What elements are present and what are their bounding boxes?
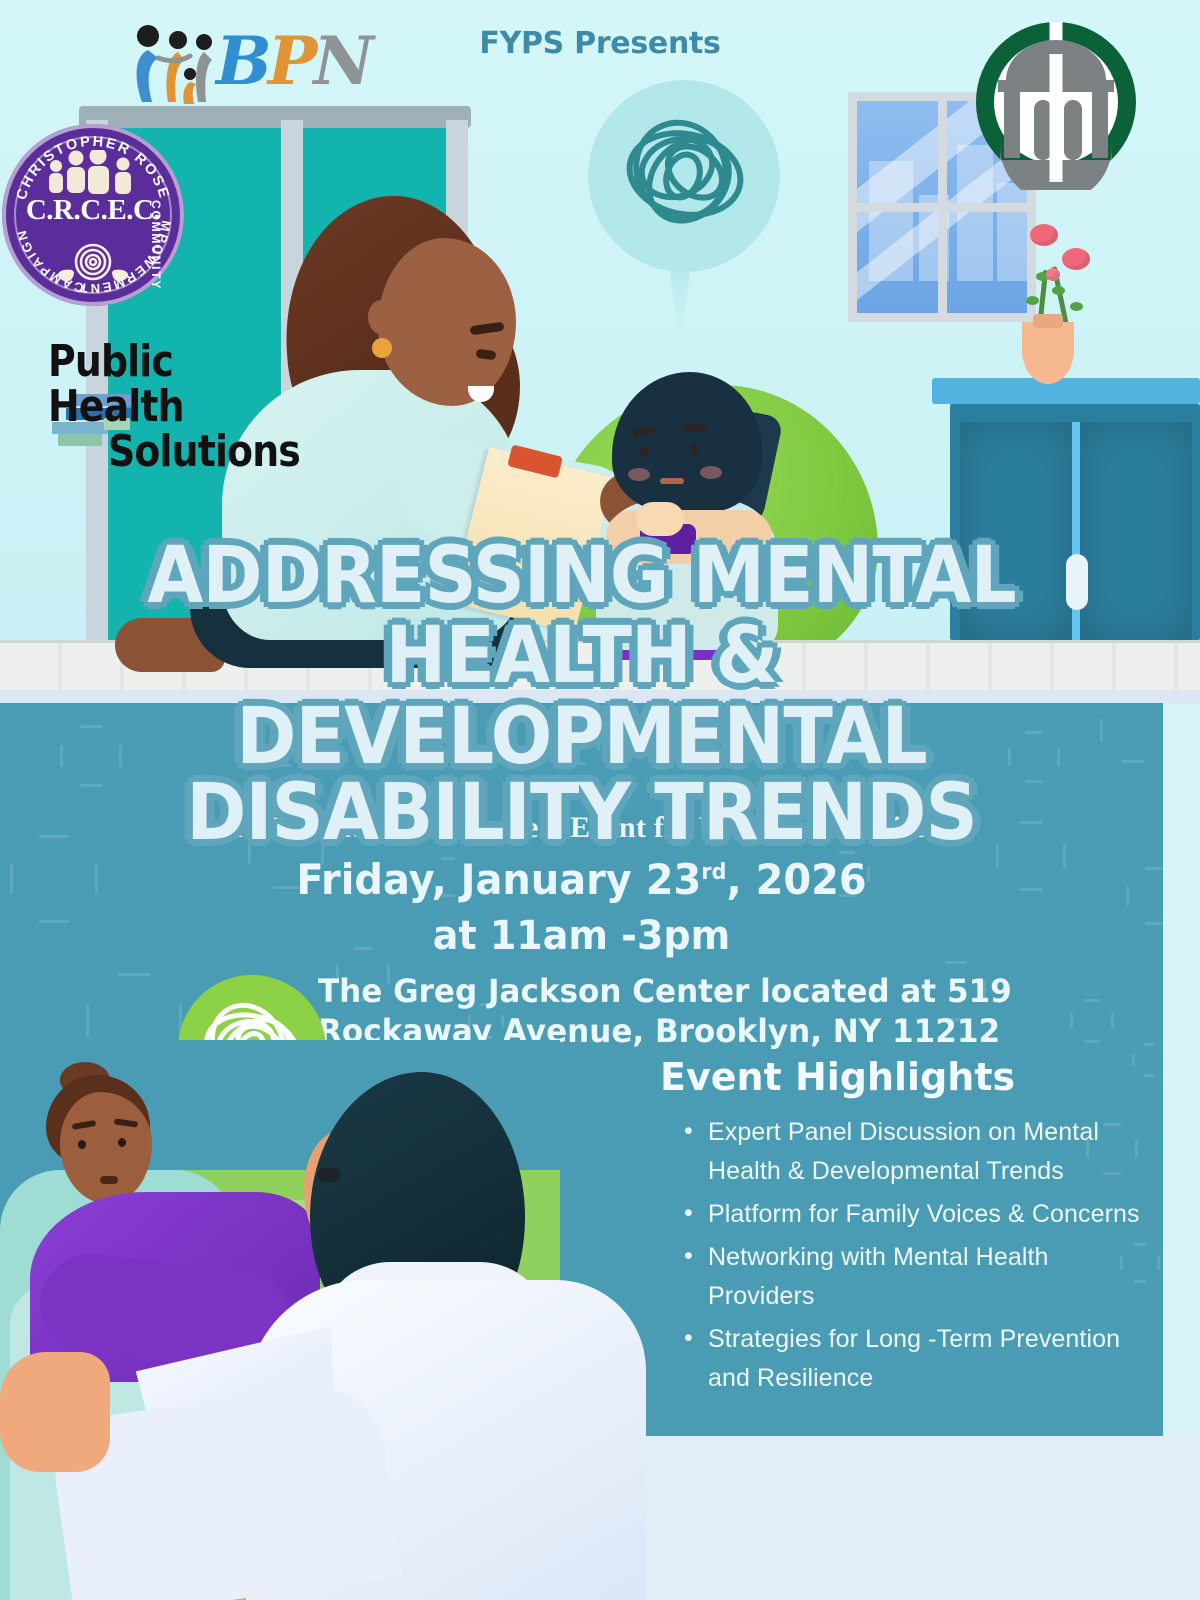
title-line-1: ADDRESSING MENTAL <box>41 538 1123 614</box>
event-time: at 11am -3pm <box>29 913 1134 959</box>
child-mouth <box>660 478 684 484</box>
flower-bloom <box>1030 224 1058 246</box>
therapist-hand <box>0 1352 110 1472</box>
title-line-2: HEALTH & <box>41 618 1123 694</box>
crcec-logo: CHRISTOPHER ROSE EMPOWERMENT CAMPAIGN CO… <box>2 124 184 306</box>
leaf <box>1070 302 1083 311</box>
child-cheek <box>628 468 650 481</box>
crcec-rose-icon <box>48 240 138 284</box>
window-mullion <box>857 203 1027 212</box>
dresser-top <box>932 378 1200 404</box>
event-venue: The Greg Jackson Center located at 519 R… <box>318 971 1094 1051</box>
flower-bloom <box>1062 248 1090 270</box>
presenter-label: FYPS Presents <box>0 26 1200 61</box>
child-eye <box>690 444 698 455</box>
child-cheek <box>700 466 722 479</box>
public-health-solutions-logo: Public Health Solutions <box>48 340 308 450</box>
panel-right-edge <box>1163 703 1200 1436</box>
list-item: Platform for Family Voices & Concerns <box>676 1195 1146 1234</box>
list-item: Networking with Mental Health Providers <box>676 1238 1146 1316</box>
highlights-list: Expert Panel Discussion on Mental Health… <box>676 1113 1146 1402</box>
title-line-3: DEVELOPMENTAL DISABILITY TRENDS <box>41 699 1123 852</box>
crcec-family-icon <box>38 150 148 194</box>
phs-line-1: Public Health <box>48 340 272 430</box>
date-ordinal: rd <box>701 860 726 885</box>
client-face <box>60 1092 152 1204</box>
client-eye <box>78 1140 86 1149</box>
crcec-center-text: C.R.C.E.C. <box>2 194 184 227</box>
leaf <box>1026 296 1039 305</box>
counselor-earring <box>372 338 392 358</box>
event-flyer: ADDRESSING MENTAL HEALTH & DEVELOPMENTAL… <box>0 0 1200 1600</box>
date-prefix: Friday, January 23 <box>296 855 701 904</box>
event-date: Friday, January 23rd, 2026 <box>29 855 1134 904</box>
flower-bud <box>1046 268 1060 281</box>
list-item: Strategies for Long -Term Prevention and… <box>676 1320 1146 1398</box>
phs-line-2: Solutions <box>108 430 280 475</box>
therapist-earpiece <box>318 1168 340 1182</box>
tangled-thoughts-scribble-icon <box>615 110 755 240</box>
list-item: Expert Panel Discussion on Mental Health… <box>676 1113 1146 1191</box>
client-eye <box>118 1138 126 1147</box>
highlights-heading: Event Highlights <box>660 1055 1015 1099</box>
client-mouth <box>100 1176 118 1184</box>
page-title: ADDRESSING MENTAL HEALTH & DEVELOPMENTAL… <box>0 538 1163 852</box>
date-suffix: , 2026 <box>727 855 867 904</box>
child-eye <box>640 446 648 457</box>
leaf <box>1052 286 1065 295</box>
